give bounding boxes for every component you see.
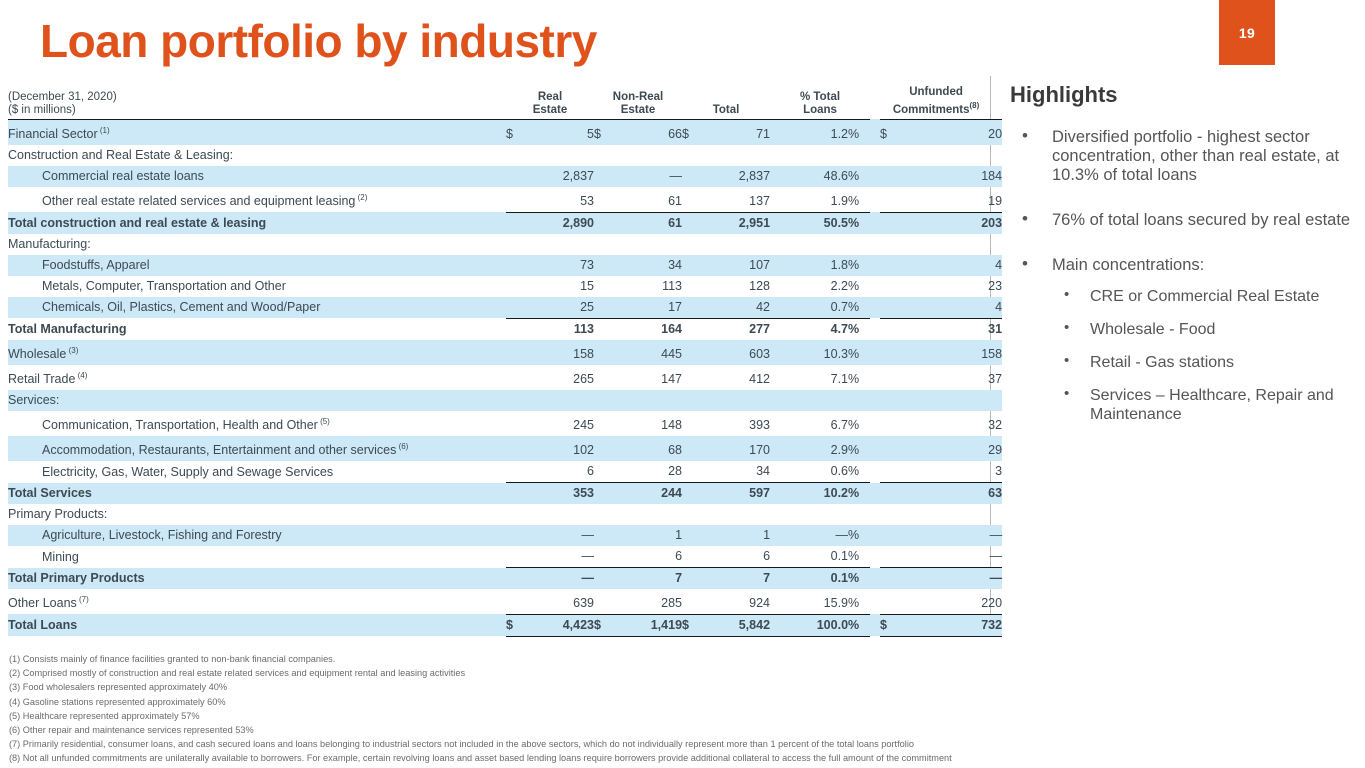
cell-non-real-estate: 148 — [608, 411, 682, 436]
cell-currency-non-real-estate — [594, 234, 608, 255]
cell-currency-unfunded — [880, 297, 896, 319]
table-row: Accommodation, Restaurants, Entertainmen… — [8, 436, 1002, 461]
cell-unfunded-commitments: 203 — [896, 212, 1002, 234]
table-row: Financial Sector (1)$5$66$711.2%$20 — [8, 119, 1002, 145]
cell-pct-total-loans — [770, 390, 848, 411]
cell-currency-total: $ — [682, 614, 696, 636]
cell-spacer — [870, 411, 880, 436]
cell-currency-non-real-estate — [594, 365, 608, 390]
highlight-subitem: Services – Healthcare, Repair and Mainte… — [1052, 386, 1355, 424]
cell-currency-total — [682, 568, 696, 590]
cell-pct-symbol: % — [848, 461, 870, 483]
cell-pct-symbol: % — [848, 297, 870, 319]
cell-currency-total: $ — [682, 119, 696, 145]
cell-pct-symbol: % — [848, 318, 870, 340]
row-label: Electricity, Gas, Water, Supply and Sewa… — [8, 461, 506, 483]
rule-segment — [880, 636, 896, 641]
cell-pct-total-loans: 100.0 — [770, 614, 848, 636]
row-label: Wholesale (3) — [8, 340, 506, 365]
cell-currency-total — [682, 390, 696, 411]
table-row: Total construction and real estate & lea… — [8, 212, 1002, 234]
table-row: Agriculture, Livestock, Fishing and Fore… — [8, 525, 1002, 546]
table-row: Total Manufacturing1131642774.7%31 — [8, 318, 1002, 340]
footnote-line: (4) Gasoline stations represented approx… — [9, 695, 1361, 709]
table-row: Total Loans$4,423$1,419$5,842100.0%$732 — [8, 614, 1002, 636]
cell-pct-symbol: % — [848, 436, 870, 461]
cell-total: 2,837 — [696, 166, 770, 187]
cell-pct-total-loans: 2.2 — [770, 276, 848, 297]
cell-unfunded-commitments: — — [896, 525, 1002, 546]
col-header-unfunded-commitments: Unfunded Commitments(8) — [870, 86, 1002, 117]
cell-total: 393 — [696, 411, 770, 436]
cell-pct-total-loans: 48.6 — [770, 166, 848, 187]
cell-spacer — [870, 614, 880, 636]
cell-currency-unfunded — [880, 234, 896, 255]
cell-currency-non-real-estate — [594, 390, 608, 411]
cell-unfunded-commitments: 31 — [896, 318, 1002, 340]
cell-real-estate: 2,890 — [520, 212, 594, 234]
cell-total: 42 — [696, 297, 770, 319]
cell-spacer — [870, 297, 880, 319]
cell-spacer — [870, 212, 880, 234]
row-label: Construction and Real Estate & Leasing: — [8, 145, 506, 166]
caption-line-2: ($ in millions) — [8, 104, 506, 117]
cell-unfunded-commitments: 63 — [896, 483, 1002, 505]
highlight-text: Main concentrations: — [1052, 256, 1204, 274]
cell-real-estate: 5 — [520, 119, 594, 145]
cell-real-estate: 639 — [520, 589, 594, 614]
cell-pct-total-loans: 2.9 — [770, 436, 848, 461]
cell-real-estate: 102 — [520, 436, 594, 461]
cell-currency-non-real-estate — [594, 568, 608, 590]
cell-real-estate: — — [520, 546, 594, 568]
cell-total: 137 — [696, 187, 770, 212]
cell-pct-symbol: % — [848, 212, 870, 234]
rule-segment — [520, 636, 594, 641]
col-header-unfunded-l2: Commitments(8) — [870, 99, 1002, 117]
cell-real-estate — [520, 504, 594, 525]
cell-real-estate: 25 — [520, 297, 594, 319]
cell-spacer — [870, 390, 880, 411]
cell-pct-symbol: % — [848, 166, 870, 187]
cell-real-estate: 15 — [520, 276, 594, 297]
cell-spacer — [870, 234, 880, 255]
cell-currency-non-real-estate — [594, 589, 608, 614]
table-body: Financial Sector (1)$5$66$711.2%$20Const… — [8, 119, 1002, 641]
cell-spacer — [870, 525, 880, 546]
cell-unfunded-commitments: 23 — [896, 276, 1002, 297]
cell-currency-unfunded — [880, 461, 896, 483]
cell-currency-total — [682, 436, 696, 461]
cell-currency-non-real-estate — [594, 525, 608, 546]
cell-pct-total-loans — [770, 504, 848, 525]
col-header-non-real-estate: Non-Real Estate — [594, 86, 682, 117]
cell-non-real-estate: — — [608, 166, 682, 187]
highlight-item: Diversified portfolio - highest sector c… — [1010, 128, 1355, 185]
row-label: Other Loans (7) — [8, 589, 506, 614]
table-row: Electricity, Gas, Water, Supply and Sewa… — [8, 461, 1002, 483]
cell-unfunded-commitments: 732 — [896, 614, 1002, 636]
cell-currency-real-estate — [506, 461, 520, 483]
cell-real-estate — [520, 145, 594, 166]
cell-pct-total-loans: 6.7 — [770, 411, 848, 436]
cell-spacer — [870, 483, 880, 505]
cell-non-real-estate — [608, 504, 682, 525]
cell-currency-real-estate — [506, 436, 520, 461]
cell-unfunded-commitments — [896, 504, 1002, 525]
page-title: Loan portfolio by industry — [40, 14, 597, 68]
cell-non-real-estate — [608, 145, 682, 166]
col-header-real-estate: Real Estate — [506, 86, 594, 117]
cell-pct-symbol — [848, 390, 870, 411]
cell-non-real-estate: 6 — [608, 546, 682, 568]
rule-segment — [870, 636, 880, 641]
col-header-total: Total — [682, 86, 770, 117]
cell-spacer — [870, 436, 880, 461]
table-header-row: (December 31, 2020) ($ in millions) Real… — [8, 86, 1002, 117]
cell-non-real-estate: 147 — [608, 365, 682, 390]
cell-pct-total-loans: 1.2 — [770, 119, 848, 145]
cell-pct-symbol: % — [848, 568, 870, 590]
highlight-subitem: Wholesale - Food — [1052, 320, 1355, 339]
cell-currency-real-estate — [506, 255, 520, 276]
col-header-pct-l2: Loans — [770, 104, 870, 117]
caption-line-1: (December 31, 2020) — [8, 91, 506, 104]
cell-unfunded-commitments: 37 — [896, 365, 1002, 390]
rule-segment — [594, 636, 608, 641]
cell-non-real-estate: 61 — [608, 212, 682, 234]
rule-segment — [8, 636, 506, 641]
cell-currency-non-real-estate — [594, 187, 608, 212]
highlight-subitem: CRE or Commercial Real Estate — [1052, 287, 1355, 306]
cell-currency-non-real-estate: $ — [594, 119, 608, 145]
cell-currency-non-real-estate — [594, 276, 608, 297]
cell-currency-non-real-estate — [594, 504, 608, 525]
cell-currency-real-estate — [506, 546, 520, 568]
highlight-subitem: Retail - Gas stations — [1052, 353, 1355, 372]
cell-currency-unfunded — [880, 436, 896, 461]
cell-real-estate: 113 — [520, 318, 594, 340]
cell-currency-non-real-estate — [594, 318, 608, 340]
footnote-line: (8) Not all unfunded commitments are uni… — [9, 751, 1361, 765]
row-label: Primary Products: — [8, 504, 506, 525]
cell-currency-unfunded: $ — [880, 614, 896, 636]
footnote-ref: (5) — [318, 417, 330, 426]
cell-real-estate: 73 — [520, 255, 594, 276]
cell-currency-total — [682, 504, 696, 525]
loan-portfolio-table-container: (December 31, 2020) ($ in millions) Real… — [8, 86, 980, 641]
table-row: Other Loans (7)63928592415.9%220 — [8, 589, 1002, 614]
highlight-text: 76% of total loans secured by real estat… — [1052, 211, 1350, 229]
cell-unfunded-commitments: 3 — [896, 461, 1002, 483]
col-header-pct-total-loans: % Total Loans — [770, 86, 870, 117]
cell-currency-non-real-estate — [594, 461, 608, 483]
highlight-text: Diversified portfolio - highest sector c… — [1052, 128, 1339, 184]
footnote-ref: (7) — [77, 595, 89, 604]
cell-real-estate: 353 — [520, 483, 594, 505]
cell-currency-unfunded — [880, 589, 896, 614]
cell-currency-non-real-estate — [594, 145, 608, 166]
cell-currency-total — [682, 589, 696, 614]
col-header-pct-l1: % Total — [770, 91, 870, 104]
table-row: Retail Trade (4)2651474127.1%37 — [8, 365, 1002, 390]
cell-currency-total — [682, 411, 696, 436]
cell-pct-symbol — [848, 145, 870, 166]
footnote-ref: (2) — [355, 193, 367, 202]
cell-currency-total — [682, 546, 696, 568]
cell-currency-unfunded — [880, 365, 896, 390]
cell-pct-total-loans: 0.1 — [770, 546, 848, 568]
cell-non-real-estate: 7 — [608, 568, 682, 590]
rule-segment — [696, 636, 770, 641]
footnote-ref-8: (8) — [970, 101, 980, 110]
cell-currency-total — [682, 297, 696, 319]
cell-unfunded-commitments: 19 — [896, 187, 1002, 212]
cell-real-estate: 245 — [520, 411, 594, 436]
table-row: Commercial real estate loans2,837—2,8374… — [8, 166, 1002, 187]
cell-unfunded-commitments: 184 — [896, 166, 1002, 187]
page-number: 19 — [1239, 25, 1255, 41]
cell-unfunded-commitments: — — [896, 568, 1002, 590]
cell-non-real-estate: 1 — [608, 525, 682, 546]
cell-spacer — [870, 568, 880, 590]
cell-currency-real-estate — [506, 525, 520, 546]
cell-non-real-estate: 17 — [608, 297, 682, 319]
cell-unfunded-commitments: 29 — [896, 436, 1002, 461]
cell-currency-non-real-estate: $ — [594, 614, 608, 636]
cell-currency-unfunded — [880, 568, 896, 590]
cell-unfunded-commitments: 32 — [896, 411, 1002, 436]
cell-spacer — [870, 276, 880, 297]
table-row: Mining—660.1%— — [8, 546, 1002, 568]
table-row: Chemicals, Oil, Plastics, Cement and Woo… — [8, 297, 1002, 319]
highlight-item: Main concentrations:CRE or Commercial Re… — [1010, 256, 1355, 424]
cell-unfunded-commitments: 4 — [896, 255, 1002, 276]
cell-real-estate: — — [520, 525, 594, 546]
cell-total: 1 — [696, 525, 770, 546]
cell-currency-total — [682, 365, 696, 390]
cell-spacer — [870, 365, 880, 390]
cell-unfunded-commitments: 4 — [896, 297, 1002, 319]
row-label: Foodstuffs, Apparel — [8, 255, 506, 276]
col-header-total-label: Total — [682, 104, 770, 117]
cell-total: 71 — [696, 119, 770, 145]
cell-currency-unfunded — [880, 340, 896, 365]
cell-currency-unfunded — [880, 525, 896, 546]
cell-non-real-estate: 1,419 — [608, 614, 682, 636]
cell-total — [696, 504, 770, 525]
cell-currency-real-estate — [506, 483, 520, 505]
footnotes-block: (1) Consists mainly of finance facilitie… — [9, 652, 1361, 766]
cell-currency-non-real-estate — [594, 297, 608, 319]
cell-spacer — [870, 461, 880, 483]
highlights-list: Diversified portfolio - highest sector c… — [1010, 128, 1355, 424]
cell-non-real-estate: 445 — [608, 340, 682, 365]
table-row: Wholesale (3)15844560310.3%158 — [8, 340, 1002, 365]
cell-pct-symbol: % — [848, 483, 870, 505]
cell-currency-real-estate — [506, 187, 520, 212]
footnote-line: (3) Food wholesalers represented approxi… — [9, 680, 1361, 694]
cell-real-estate: 2,837 — [520, 166, 594, 187]
cell-currency-non-real-estate — [594, 340, 608, 365]
cell-currency-real-estate — [506, 504, 520, 525]
col-header-unfunded-l1: Unfunded — [870, 86, 1002, 99]
col-header-non-real-estate-l2: Estate — [594, 104, 682, 117]
cell-pct-total-loans: 1.9 — [770, 187, 848, 212]
cell-total: 107 — [696, 255, 770, 276]
footnote-ref: (3) — [66, 346, 78, 355]
cell-pct-total-loans: 10.3 — [770, 340, 848, 365]
row-label: Total Primary Products — [8, 568, 506, 590]
row-label: Metals, Computer, Transportation and Oth… — [8, 276, 506, 297]
cell-total — [696, 145, 770, 166]
cell-currency-non-real-estate — [594, 255, 608, 276]
rule-segment — [506, 636, 520, 641]
cell-currency-unfunded — [880, 145, 896, 166]
cell-currency-total — [682, 483, 696, 505]
cell-real-estate: 6 — [520, 461, 594, 483]
cell-non-real-estate: 164 — [608, 318, 682, 340]
cell-currency-total — [682, 145, 696, 166]
cell-currency-real-estate — [506, 411, 520, 436]
cell-total: 412 — [696, 365, 770, 390]
cell-real-estate: 158 — [520, 340, 594, 365]
footnote-line: (5) Healthcare represented approximately… — [9, 709, 1361, 723]
cell-spacer — [870, 340, 880, 365]
cell-unfunded-commitments — [896, 145, 1002, 166]
col-header-non-real-estate-l1: Non-Real — [594, 91, 682, 104]
cell-unfunded-commitments: — — [896, 546, 1002, 568]
cell-total — [696, 234, 770, 255]
footnote-line: (6) Other repair and maintenance service… — [9, 723, 1361, 737]
row-label: Accommodation, Restaurants, Entertainmen… — [8, 436, 506, 461]
rule-segment — [608, 636, 682, 641]
table-row: Services: — [8, 390, 1002, 411]
cell-spacer — [870, 187, 880, 212]
cell-pct-total-loans: 50.5 — [770, 212, 848, 234]
row-label: Total construction and real estate & lea… — [8, 212, 506, 234]
cell-pct-total-loans: 15.9 — [770, 589, 848, 614]
cell-real-estate: — — [520, 568, 594, 590]
table-row: Total Services35324459710.2%63 — [8, 483, 1002, 505]
cell-currency-real-estate: $ — [506, 614, 520, 636]
cell-total: 7 — [696, 568, 770, 590]
cell-pct-symbol: % — [848, 411, 870, 436]
cell-real-estate — [520, 390, 594, 411]
cell-pct-symbol: % — [848, 187, 870, 212]
cell-pct-symbol: % — [848, 119, 870, 145]
row-label: Communication, Transportation, Health an… — [8, 411, 506, 436]
footnote-line: (7) Primarily residential, consumer loan… — [9, 737, 1361, 751]
cell-spacer — [870, 255, 880, 276]
cell-pct-total-loans: 7.1 — [770, 365, 848, 390]
footnote-line: (2) Comprised mostly of construction and… — [9, 666, 1361, 680]
cell-spacer — [870, 166, 880, 187]
cell-currency-unfunded — [880, 483, 896, 505]
cell-pct-total-loans: 0.1 — [770, 568, 848, 590]
cell-non-real-estate: 61 — [608, 187, 682, 212]
table-header: (December 31, 2020) ($ in millions) Real… — [8, 86, 1002, 119]
cell-total: 128 — [696, 276, 770, 297]
row-label: Total Loans — [8, 614, 506, 636]
cell-total: 2,951 — [696, 212, 770, 234]
cell-currency-unfunded — [880, 276, 896, 297]
cell-currency-unfunded — [880, 504, 896, 525]
cell-currency-total — [682, 461, 696, 483]
table-caption: (December 31, 2020) ($ in millions) — [8, 86, 506, 117]
rule-segment — [896, 636, 1002, 641]
highlights-heading: Highlights — [1010, 82, 1355, 108]
cell-currency-total — [682, 340, 696, 365]
cell-total: 924 — [696, 589, 770, 614]
cell-currency-real-estate — [506, 166, 520, 187]
cell-unfunded-commitments: 158 — [896, 340, 1002, 365]
cell-total: 597 — [696, 483, 770, 505]
cell-currency-real-estate — [506, 340, 520, 365]
highlight-item: 76% of total loans secured by real estat… — [1010, 211, 1355, 230]
cell-non-real-estate: 113 — [608, 276, 682, 297]
cell-non-real-estate — [608, 390, 682, 411]
cell-total: 5,842 — [696, 614, 770, 636]
cell-pct-total-loans — [770, 234, 848, 255]
cell-currency-unfunded — [880, 166, 896, 187]
cell-pct-total-loans — [770, 145, 848, 166]
cell-currency-real-estate — [506, 589, 520, 614]
cell-currency-total — [682, 187, 696, 212]
col-header-real-estate-l1: Real — [506, 91, 594, 104]
cell-real-estate: 53 — [520, 187, 594, 212]
loan-portfolio-table: (December 31, 2020) ($ in millions) Real… — [8, 86, 1002, 641]
cell-currency-real-estate — [506, 365, 520, 390]
cell-non-real-estate: 34 — [608, 255, 682, 276]
cell-pct-total-loans: 1.8 — [770, 255, 848, 276]
cell-total: 277 — [696, 318, 770, 340]
cell-pct-total-loans: 0.6 — [770, 461, 848, 483]
cell-currency-non-real-estate — [594, 212, 608, 234]
cell-spacer — [870, 546, 880, 568]
cell-pct-symbol: % — [848, 255, 870, 276]
table-row: Manufacturing: — [8, 234, 1002, 255]
cell-currency-real-estate — [506, 318, 520, 340]
cell-currency-real-estate — [506, 234, 520, 255]
col-header-real-estate-l2: Estate — [506, 104, 594, 117]
table-row: Other real estate related services and e… — [8, 187, 1002, 212]
cell-unfunded-commitments: 20 — [896, 119, 1002, 145]
cell-currency-non-real-estate — [594, 166, 608, 187]
cell-unfunded-commitments: 220 — [896, 589, 1002, 614]
cell-real-estate: 4,423 — [520, 614, 594, 636]
footnote-ref: (6) — [396, 442, 408, 451]
table-row: Primary Products: — [8, 504, 1002, 525]
cell-non-real-estate: 244 — [608, 483, 682, 505]
cell-currency-unfunded — [880, 212, 896, 234]
cell-currency-non-real-estate — [594, 483, 608, 505]
cell-total — [696, 390, 770, 411]
cell-pct-total-loans: 4.7 — [770, 318, 848, 340]
row-label: Manufacturing: — [8, 234, 506, 255]
cell-pct-symbol: % — [848, 525, 870, 546]
cell-currency-total — [682, 318, 696, 340]
table-row: Total Primary Products—770.1%— — [8, 568, 1002, 590]
row-label: Chemicals, Oil, Plastics, Cement and Woo… — [8, 297, 506, 319]
cell-pct-symbol: % — [848, 340, 870, 365]
row-label: Total Services — [8, 483, 506, 505]
highlights-panel: Highlights Diversified portfolio - highe… — [1010, 82, 1355, 450]
rule-segment — [682, 636, 696, 641]
cell-unfunded-commitments — [896, 390, 1002, 411]
cell-real-estate — [520, 234, 594, 255]
cell-unfunded-commitments — [896, 234, 1002, 255]
